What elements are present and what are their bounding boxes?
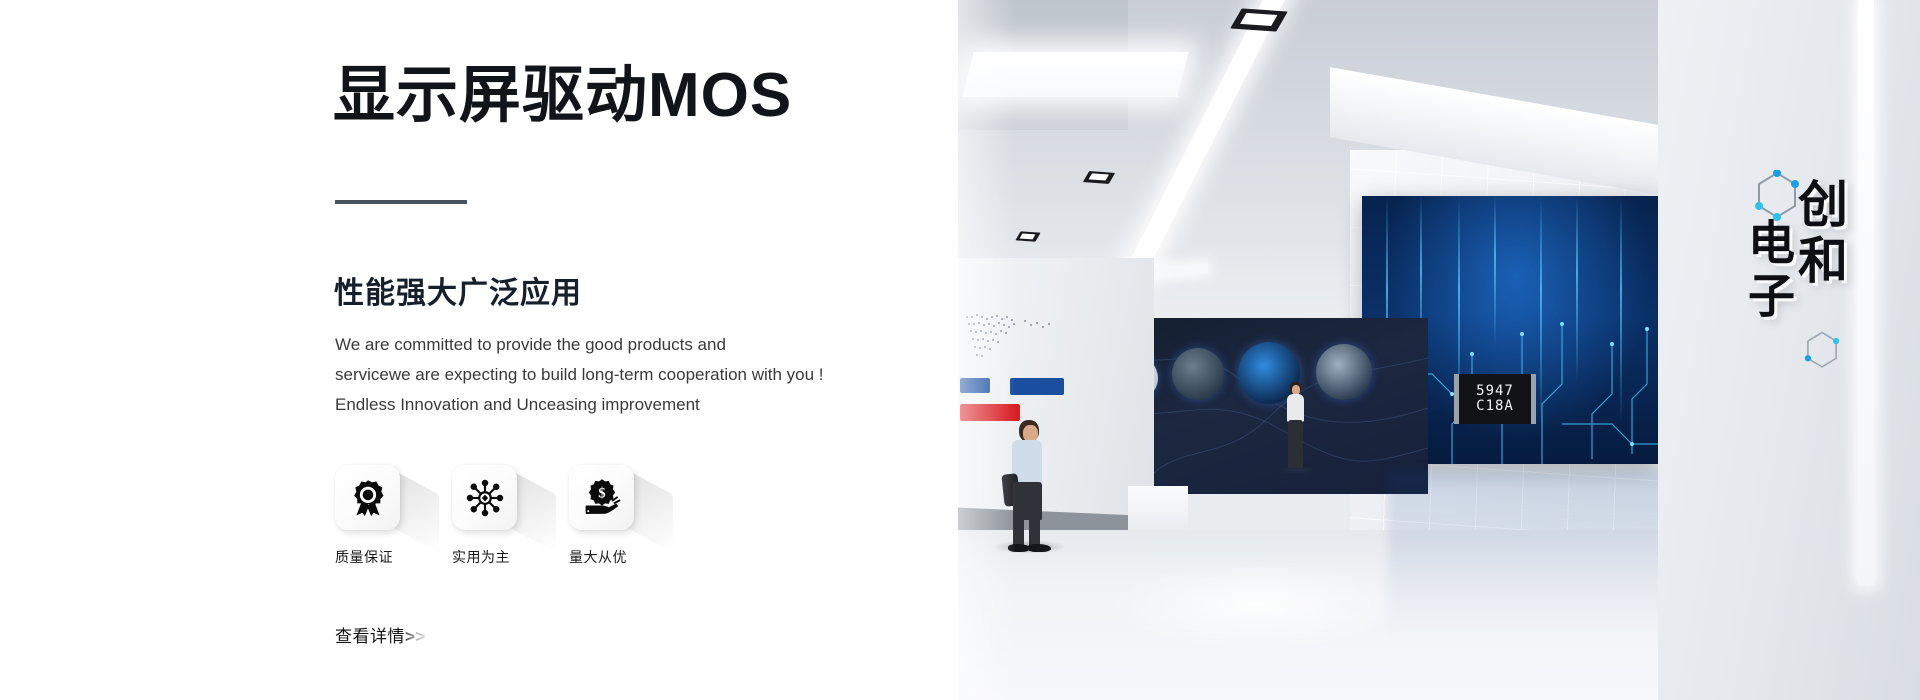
skylight-panel: [962, 52, 1188, 97]
feature-item-bulk[interactable]: $ 量大从优: [569, 465, 634, 567]
view-detail-arrows: >>: [405, 627, 426, 646]
feature-tile-bulk[interactable]: $: [569, 465, 634, 530]
screen-floor-reflection: [1388, 470, 1688, 680]
person-businessman: [998, 420, 1068, 550]
feature-tile-practical[interactable]: [452, 465, 517, 530]
wall-sign-text-left: 电子: [1744, 218, 1791, 324]
signage-wall: 创和 电子: [1658, 0, 1920, 700]
chip-label-line-1: 5947: [1476, 384, 1514, 399]
display-circle: [1172, 348, 1224, 400]
page-title: 显示屏驱动MOS: [333, 63, 792, 128]
person-visitor: [1280, 382, 1312, 472]
feature-item-quality[interactable]: 质量保证: [335, 465, 400, 567]
floor-light-glow: [1108, 560, 1408, 650]
chip-label: 5947 C18A: [1454, 374, 1536, 424]
description-line-3: Endless Innovation and Unceasing improve…: [335, 390, 915, 420]
floor-podium: [1128, 486, 1188, 530]
view-detail-label: 查看详情: [335, 627, 405, 646]
showroom-photo: 5947 C18A: [958, 0, 1920, 700]
feature-list: 质量保证: [335, 465, 634, 567]
display-circle: [1316, 344, 1372, 400]
molecule-hexagon-icon: [1804, 330, 1840, 374]
feature-item-practical[interactable]: 实用为主: [452, 465, 517, 567]
wall-plaque-blue: [1010, 378, 1064, 395]
feature-label-bulk: 量大从优: [569, 547, 634, 567]
wall-plaque: [960, 378, 990, 393]
person-pants: [1288, 420, 1303, 468]
wall-sign-text-right: 创和: [1794, 178, 1844, 290]
feature-tile-quality[interactable]: [335, 465, 400, 530]
feature-label-quality: 质量保证: [335, 547, 400, 567]
vertical-light-strip: [1858, 0, 1874, 585]
chip-label-line-2: C18A: [1476, 399, 1514, 414]
hero-banner: 显示屏驱动MOS 性能强大广泛应用 We are committed to pr…: [0, 0, 1920, 700]
network-hub-icon: [465, 478, 505, 518]
feature-label-practical: 实用为主: [452, 547, 517, 567]
person-shirt: [1287, 394, 1304, 422]
person-shoe: [1027, 544, 1051, 552]
page-subtitle: 性能强大广泛应用: [334, 268, 582, 312]
hand-money-icon: $: [582, 478, 622, 518]
description-paragraph: We are committed to provide the good pro…: [335, 330, 915, 420]
text-column: 显示屏驱动MOS 性能强大广泛应用 We are committed to pr…: [0, 0, 958, 700]
description-line-1: We are committed to provide the good pro…: [335, 330, 915, 360]
svg-text:$: $: [598, 485, 605, 501]
description-line-2: servicewe are expecting to build long-te…: [335, 360, 915, 390]
award-badge-icon: [348, 478, 388, 518]
title-divider: [335, 200, 467, 204]
world-map-graphic: [964, 310, 1056, 366]
view-detail-link[interactable]: 查看详情>>: [335, 622, 426, 647]
wall-plaque-red: [960, 404, 1020, 421]
